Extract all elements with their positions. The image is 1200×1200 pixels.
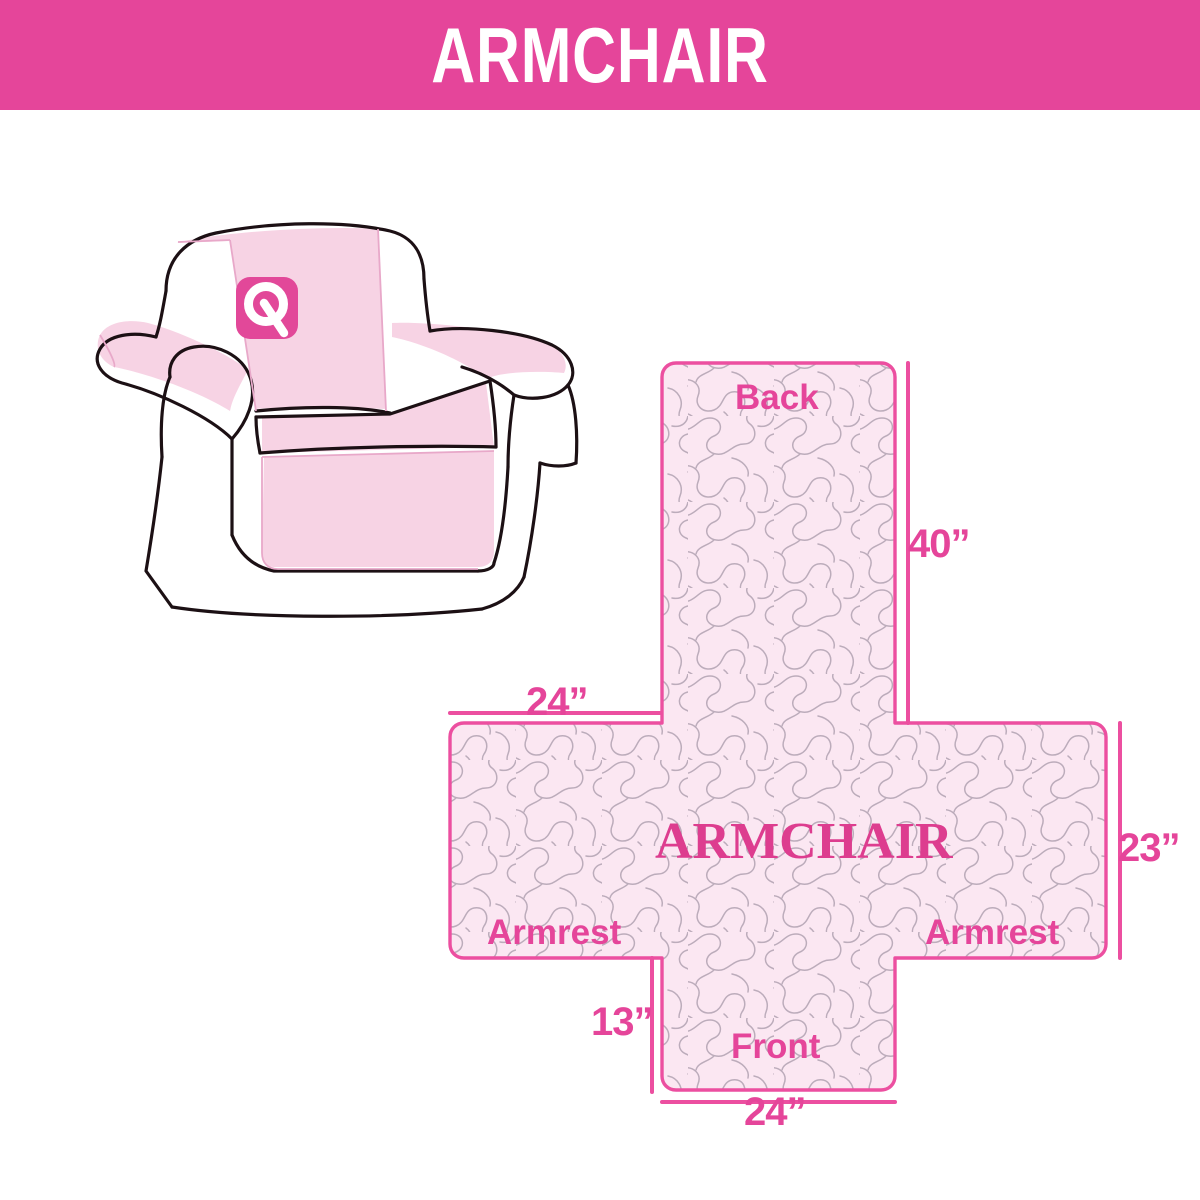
base-left-edge — [146, 457, 172, 607]
panel-label-armrest-right: Armrest — [925, 913, 1059, 953]
panel-label-back: Back — [735, 378, 819, 418]
cross-panel-quilting — [450, 363, 1106, 1090]
header-banner: ARMCHAIR — [0, 0, 1200, 110]
panel-label-armrest-left: Armrest — [487, 913, 621, 953]
cross-panel-group — [450, 363, 1106, 1090]
left-arm-front-left — [161, 377, 170, 457]
armchair-dimension-infographic: ARMCHAIR — [0, 0, 1200, 1200]
page-title: ARMCHAIR — [132, 0, 1068, 110]
dimension-label-23in: 23” — [1118, 826, 1180, 871]
panel-label-front: Front — [731, 1027, 820, 1067]
cross-diagram-svg — [430, 330, 1200, 1145]
seam-back-left-top — [178, 240, 230, 242]
dimension-label-24in-top: 24” — [526, 680, 588, 725]
diagram-center-label: ARMCHAIR — [655, 812, 953, 871]
slipcover-cross-diagram — [430, 330, 1200, 1145]
seat-left-edge — [256, 417, 260, 453]
backrest-bottom-edge — [256, 407, 390, 413]
dimension-label-13in: 13” — [591, 1000, 653, 1045]
back-right-edge — [424, 279, 430, 331]
q-logo-badge — [236, 277, 298, 339]
dimension-label-24in-bottom: 24” — [744, 1090, 806, 1135]
dimension-label-40in: 40” — [908, 522, 970, 567]
